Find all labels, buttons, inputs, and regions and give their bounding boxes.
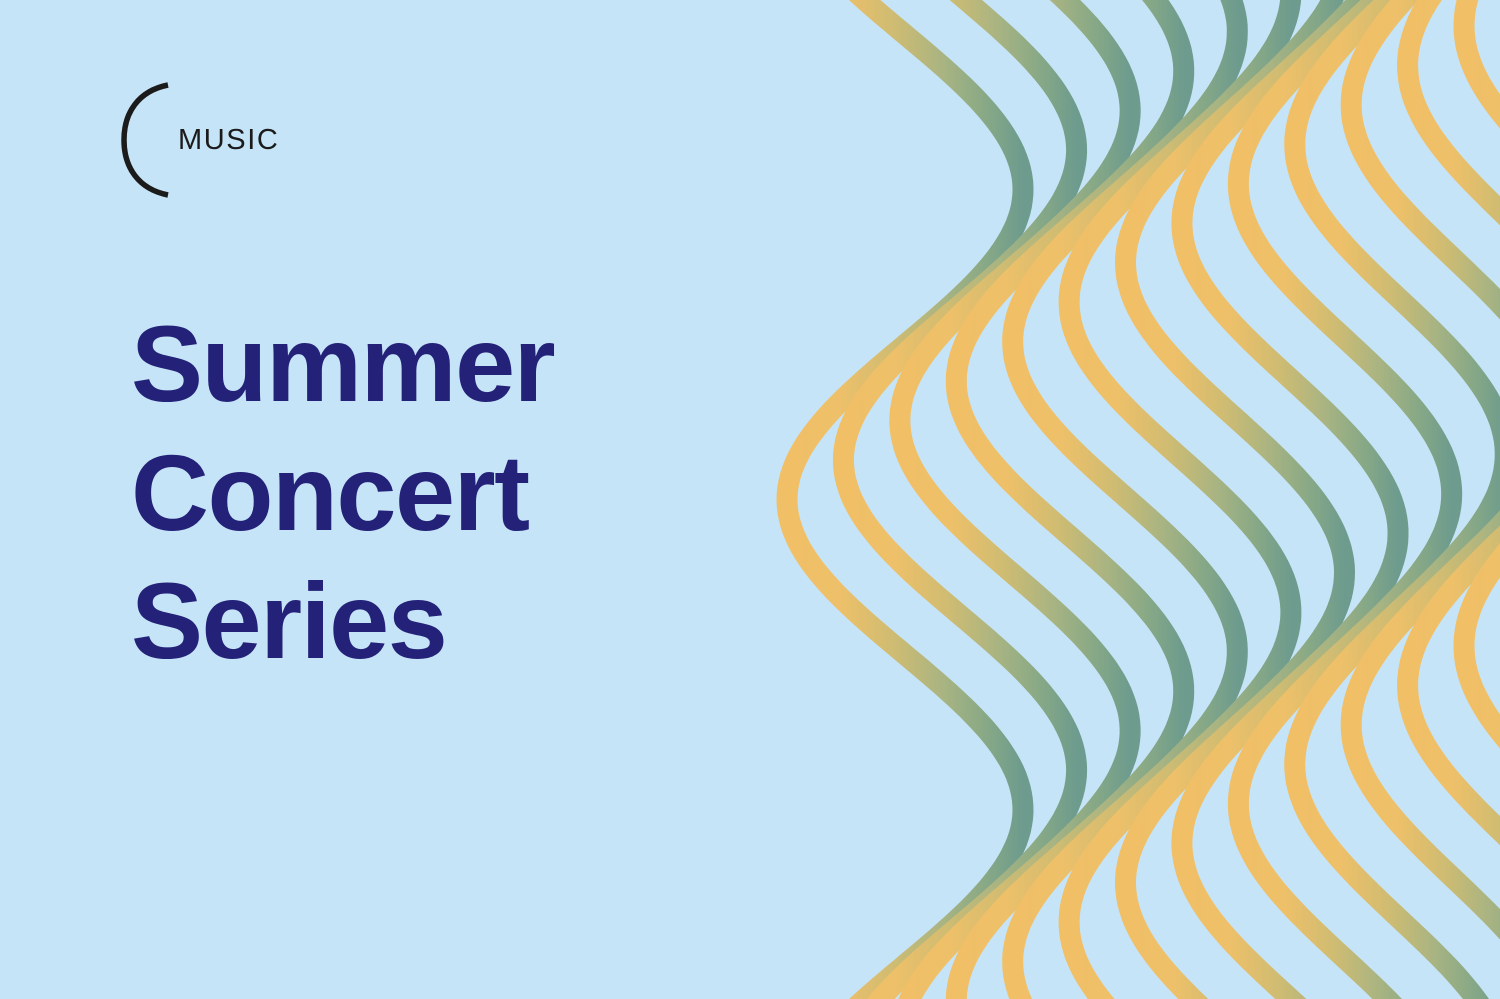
wave-line [1408,0,1500,999]
music-arc-icon [120,81,172,199]
wave-line [1069,0,1291,999]
wave-line [787,0,1023,999]
wave-line [956,0,1183,999]
page-title-line-3: Series [131,557,771,686]
wave-line [843,0,1076,999]
wave-line [1295,0,1500,999]
wave-line [1464,0,1500,999]
poster-canvas: MUSIC Summer Concert Series [0,0,1500,999]
wave-line [1013,0,1238,999]
logo-wordmark: MUSIC [178,126,279,155]
brand-logo: MUSIC [120,80,279,200]
wave-line [1238,0,1451,999]
page-title-line-1: Summer [131,300,771,429]
wave-line [1182,0,1398,999]
page-title-line-2: Concert [131,429,771,558]
wave-line [1351,0,1500,999]
wave-line [1126,0,1345,999]
wave-line [900,0,1130,999]
page-title: Summer Concert Series [131,300,771,686]
